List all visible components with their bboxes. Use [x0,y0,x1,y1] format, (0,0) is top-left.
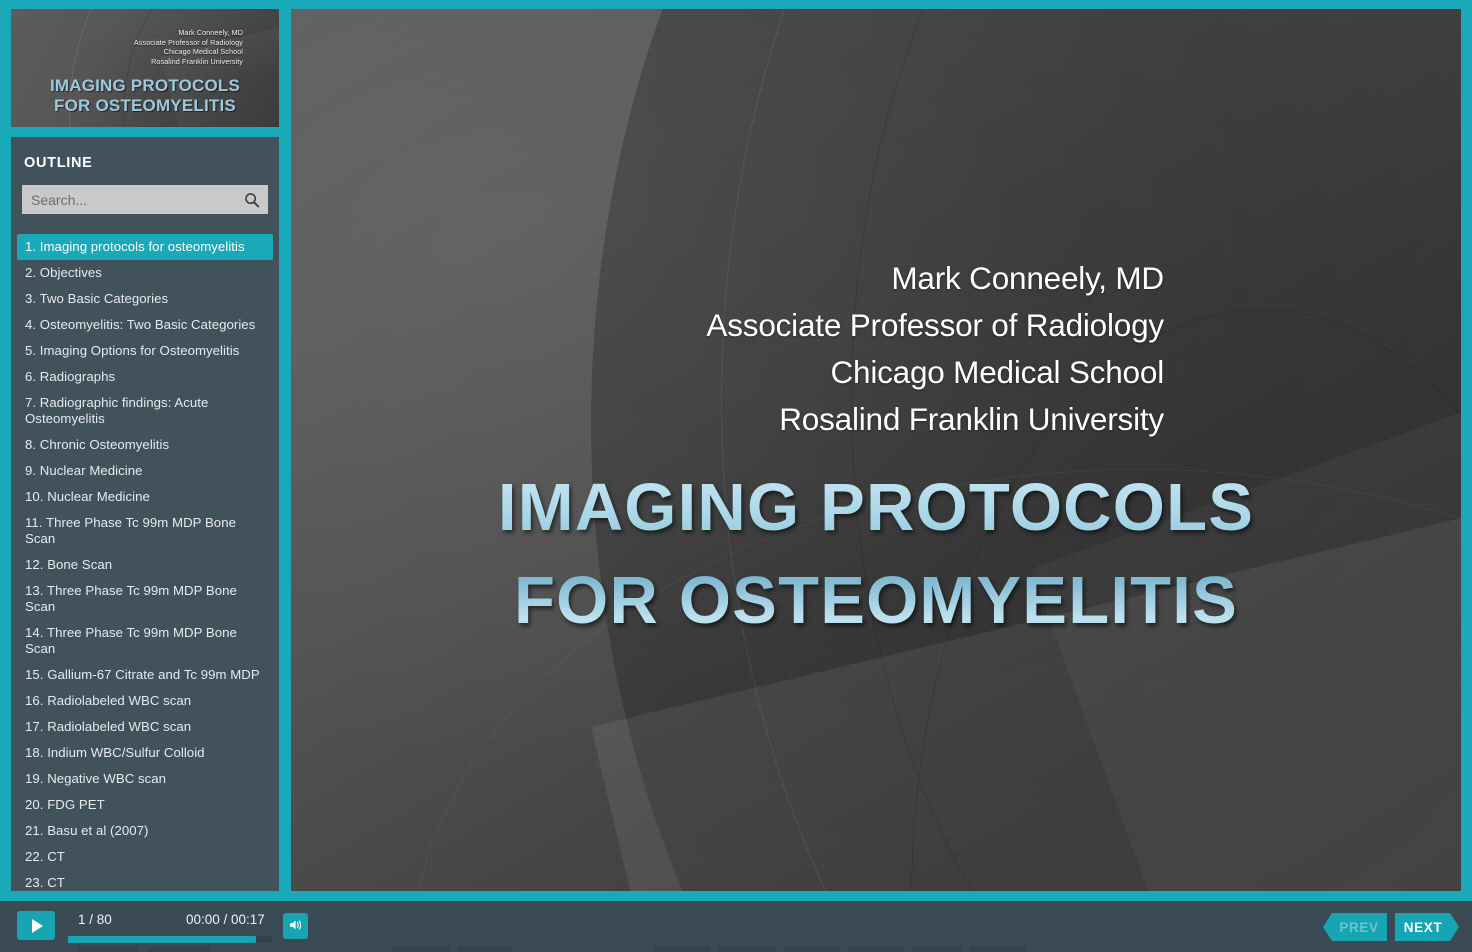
presentation-player: Mark Conneely, MD Associate Professor of… [0,0,1472,952]
volume-icon [288,918,303,935]
thumbnail-background: Mark Conneely, MD Associate Professor of… [11,9,279,127]
outline-item-13[interactable]: 13. Three Phase Tc 99m MDP Bone Scan [11,578,279,620]
slide-author-line: Chicago Medical School [544,349,1164,396]
partial-controls-row [0,946,1472,952]
outline-item-15[interactable]: 15. Gallium-67 Citrate and Tc 99m MDP [11,662,279,688]
outline-item-2[interactable]: 2. Objectives [11,260,279,286]
slide-title-line-1: IMAGING PROTOCOLS [291,461,1461,554]
play-button[interactable] [17,911,55,940]
slide-counter: 1 / 80 [78,912,112,927]
outline-item-9[interactable]: 9. Nuclear Medicine [11,458,279,484]
slide-vignette-overlay [291,9,1461,891]
slide-author-line: Mark Conneely, MD [544,255,1164,302]
outline-item-12[interactable]: 12. Bone Scan [11,552,279,578]
slide-author-block: Mark Conneely, MD Associate Professor of… [544,255,1164,443]
thumbnail-author-line: Rosalind Franklin University [134,57,243,67]
search-input[interactable] [22,185,268,214]
outline-item-18[interactable]: 18. Indium WBC/Sulfur Colloid [11,740,279,766]
left-sidebar: Mark Conneely, MD Associate Professor of… [11,9,279,891]
outline-item-3[interactable]: 3. Two Basic Categories [11,286,279,312]
prev-button[interactable]: PREV [1323,913,1387,941]
thumbnail-author-line: Mark Conneely, MD [134,28,243,38]
outline-item-1[interactable]: 1. Imaging protocols for osteomyelitis [17,234,273,260]
slide-stage[interactable]: Mark Conneely, MD Associate Professor of… [291,9,1461,891]
slide-title-line-2: FOR OSTEOMYELITIS [291,554,1461,647]
outline-item-16[interactable]: 16. Radiolabeled WBC scan [11,688,279,714]
toolbar-top-rule [0,899,1472,901]
outline-item-19[interactable]: 19. Negative WBC scan [11,766,279,792]
search-box[interactable] [22,185,268,214]
progress-fill [68,936,256,943]
slide-title: IMAGING PROTOCOLS FOR OSTEOMYELITIS [291,461,1461,647]
thumbnail-author-block: Mark Conneely, MD Associate Professor of… [134,28,243,66]
outline-item-4[interactable]: 4. Osteomyelitis: Two Basic Categories [11,312,279,338]
outline-item-23[interactable]: 23. CT [11,870,279,891]
outline-item-20[interactable]: 20. FDG PET [11,792,279,818]
thumbnail-title-line-2: FOR OSTEOMYELITIS [11,96,279,116]
outline-item-14[interactable]: 14. Three Phase Tc 99m MDP Bone Scan [11,620,279,662]
outline-item-7[interactable]: 7. Radiographic findings: Acute Osteomye… [11,390,279,432]
outline-item-8[interactable]: 8. Chronic Osteomyelitis [11,432,279,458]
outline-list[interactable]: 1. Imaging protocols for osteomyelitis2.… [11,234,279,891]
outline-item-21[interactable]: 21. Basu et al (2007) [11,818,279,844]
slide-thumbnail[interactable]: Mark Conneely, MD Associate Professor of… [11,9,279,127]
slide-author-line: Associate Professor of Radiology [544,302,1164,349]
volume-button[interactable] [283,913,308,939]
outline-item-17[interactable]: 17. Radiolabeled WBC scan [11,714,279,740]
thumbnail-title: IMAGING PROTOCOLS FOR OSTEOMYELITIS [11,76,279,116]
outline-panel: OUTLINE 1. Imaging protocols for osteomy… [11,137,279,891]
thumbnail-author-line: Associate Professor of Radiology [134,38,243,48]
timecode-display: 00:00 / 00:17 [186,912,265,927]
outline-item-10[interactable]: 10. Nuclear Medicine [11,484,279,510]
outline-item-11[interactable]: 11. Three Phase Tc 99m MDP Bone Scan [11,510,279,552]
outline-item-5[interactable]: 5. Imaging Options for Osteomyelitis [11,338,279,364]
next-button[interactable]: NEXT [1395,913,1459,941]
progress-scrubber[interactable] [68,936,272,943]
outline-item-6[interactable]: 6. Radiographs [11,364,279,390]
play-icon [32,919,43,933]
thumbnail-author-line: Chicago Medical School [134,47,243,57]
outline-item-22[interactable]: 22. CT [11,844,279,870]
slide-author-line: Rosalind Franklin University [544,396,1164,443]
thumbnail-title-line-1: IMAGING PROTOCOLS [11,76,279,96]
outline-header: OUTLINE [11,137,279,171]
